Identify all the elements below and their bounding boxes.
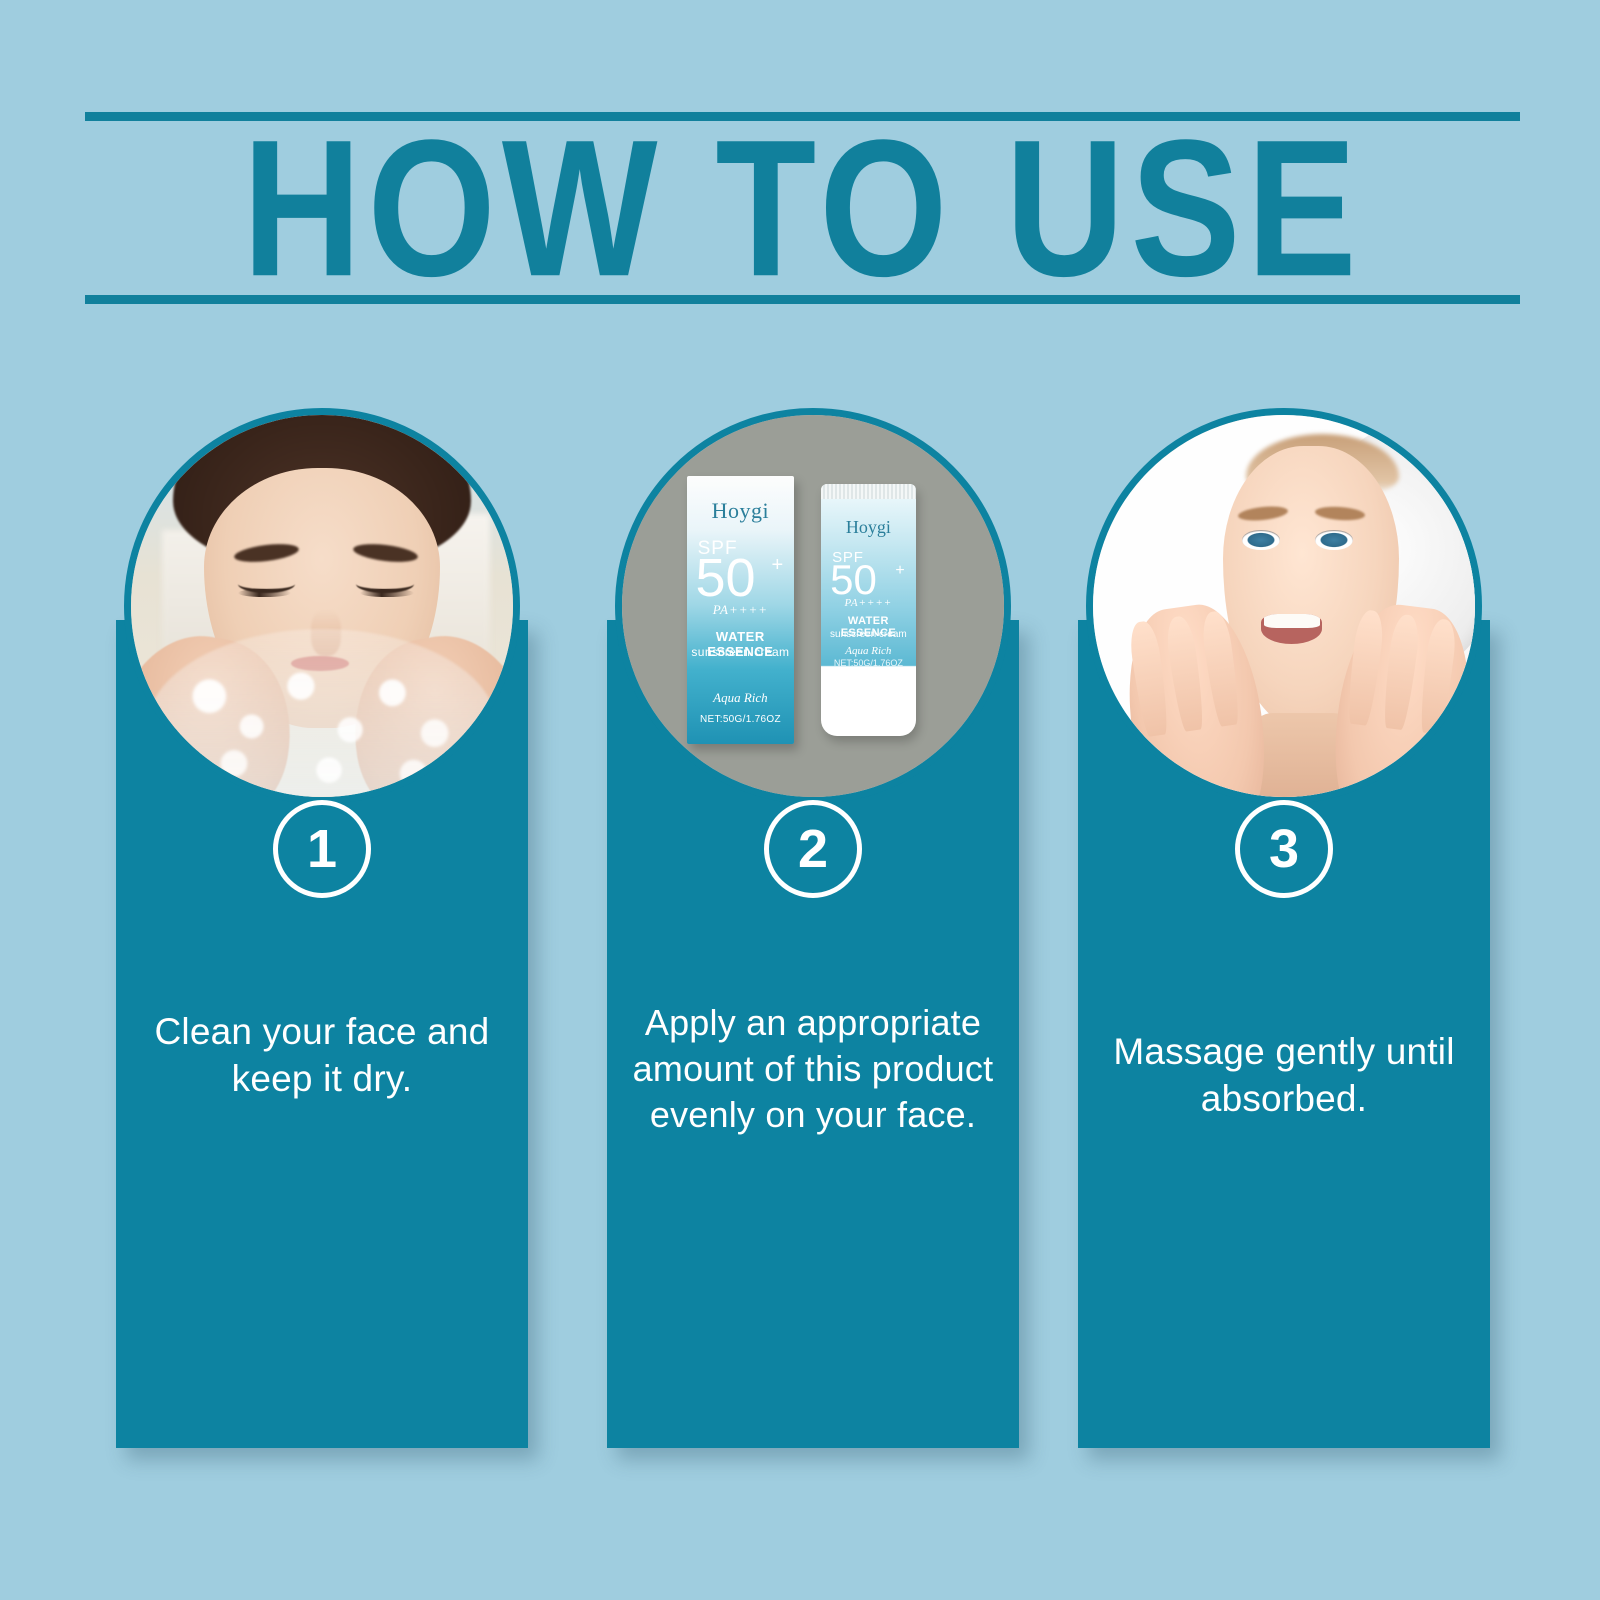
product-pa-rating-tube: PA++++ [821,597,917,609]
page-title: HOW TO USE [85,95,1520,322]
product-tagline-tube: Aqua Rich [821,645,917,657]
product-net-weight-box: NET:50G/1.76OZ [687,714,794,725]
step-2-photo-circle: Hoygi SPF 50 + PA++++ WATER ESSENCE suns… [615,408,1011,804]
product-tube: Hoygi SPF 50 + PA++++ WATER ESSENCE suns… [821,484,917,736]
product-spf-value-tube: 50 [830,559,877,601]
step-3-number-badge: 3 [1235,800,1333,898]
step-2-number-badge: 2 [764,800,862,898]
product-line2-box: sunscreen cream [687,645,794,659]
product-line2-tube: sunscreen cream [821,629,917,640]
woman-massaging-face-photo [1093,415,1475,797]
product-tagline-box: Aqua Rich [687,690,794,706]
step-3-caption: Massage gently until absorbed. [1094,1028,1473,1123]
step-3-photo-circle [1086,408,1482,804]
page-header: HOW TO USE [85,112,1520,304]
sunscreen-product-photo: Hoygi SPF 50 + PA++++ WATER ESSENCE suns… [622,415,1004,797]
woman-washing-face-photo [131,415,513,797]
product-net-weight-tube: NET:50G/1.76OZ [821,658,917,668]
step-card-3: 3 Massage gently until absorbed. [1078,408,1490,1448]
title-rule-bottom [85,295,1520,304]
product-brand-box: Hoygi [687,498,794,524]
step-card-1: 1 Clean your face and keep it dry. [116,408,528,1448]
step-1-number-badge: 1 [273,800,371,898]
product-box: Hoygi SPF 50 + PA++++ WATER ESSENCE suns… [687,476,794,743]
step-2-caption: Apply an appropriate amount of this prod… [623,1000,1002,1138]
steps-row: 1 Clean your face and keep it dry. Hoygi… [116,408,1486,1468]
step-1-photo-circle [124,408,520,804]
product-brand-tube: Hoygi [821,517,917,538]
product-pa-rating-box: PA++++ [687,602,794,618]
tube-crimp-seam [821,484,917,499]
product-spf-plus-box: + [772,554,784,577]
product-spf-plus-tube: + [895,562,904,580]
step-card-2: Hoygi SPF 50 + PA++++ WATER ESSENCE suns… [607,408,1019,1448]
step-1-caption: Clean your face and keep it dry. [132,1008,511,1103]
product-spf-value-box: 50 [695,551,755,605]
